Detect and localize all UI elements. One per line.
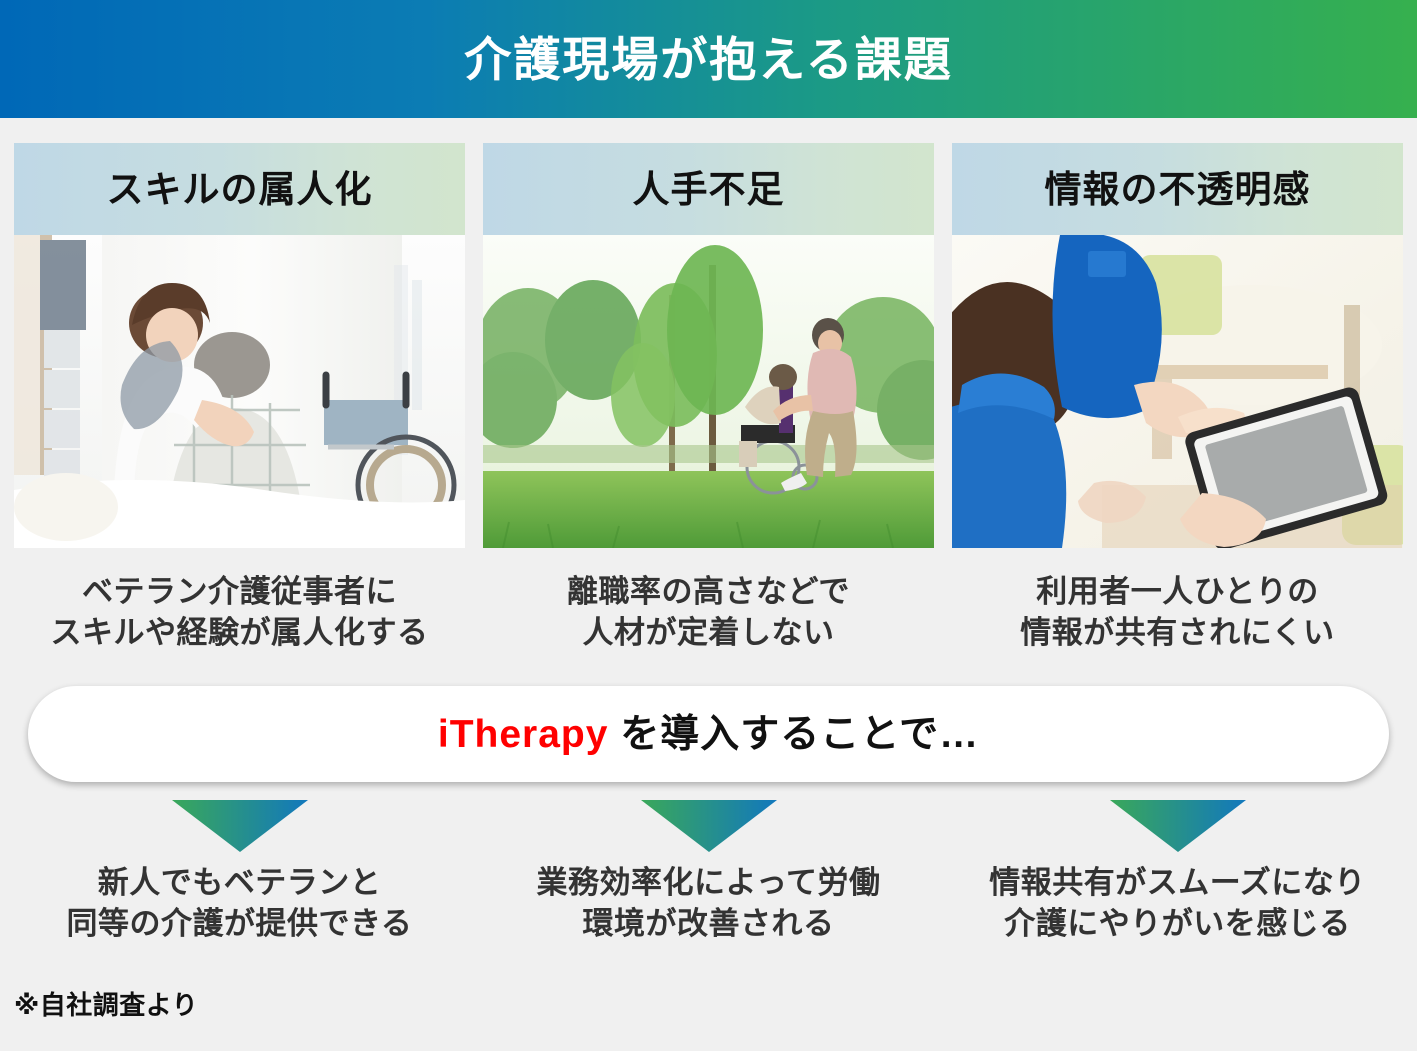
arrow-cell-2 — [483, 800, 934, 852]
arrow-cell-3 — [952, 800, 1403, 852]
footnote: ※自社調査より — [14, 985, 198, 1022]
challenge-card-3: 情報の不透明感 — [952, 143, 1403, 548]
card-title-band-1: スキルの属人化 — [14, 143, 465, 235]
arrow-down-triangle-icon — [172, 800, 308, 852]
arrow-cell-1 — [14, 800, 465, 852]
photo-park-wheelchair-illustration — [483, 235, 934, 548]
problem-caption-3-line2: 情報が共有されにくい — [952, 613, 1403, 654]
challenge-card-2: 人手不足 — [483, 143, 934, 548]
itherapy-banner-suffix: を導入することで… — [608, 713, 979, 756]
itherapy-banner-text: iTherapy を導入することで… — [438, 715, 979, 754]
benefit-caption-1-line1: 新人でもベテランと — [14, 863, 465, 904]
photo-caregivers-tablet-illustration — [952, 235, 1403, 548]
problem-caption-1-line1: ベテラン介護従事者に — [14, 572, 465, 613]
problem-caption-3-line1: 利用者一人ひとりの — [952, 572, 1403, 613]
problem-caption-2-line1: 離職率の高さなどで — [483, 572, 934, 613]
itherapy-banner: iTherapy を導入することで… — [28, 686, 1389, 782]
arrow-down-triangle-icon — [1110, 800, 1246, 852]
photo-caregiver-bedside-illustration — [14, 235, 465, 548]
problem-caption-1: ベテラン介護従事者に スキルや経験が属人化する — [14, 572, 465, 654]
card-title-1: スキルの属人化 — [107, 171, 373, 208]
itherapy-brand-label: iTherapy — [438, 713, 609, 756]
benefit-captions: 新人でもベテランと 同等の介護が提供できる 業務効率化によって労働 環境が改善さ… — [14, 863, 1403, 945]
challenge-cards: スキルの属人化 — [14, 143, 1403, 548]
problem-caption-2-line2: 人材が定着しない — [483, 613, 934, 654]
benefit-caption-3: 情報共有がスムーズになり 介護にやりがいを感じる — [952, 863, 1403, 945]
benefit-caption-1: 新人でもベテランと 同等の介護が提供できる — [14, 863, 465, 945]
problem-caption-2: 離職率の高さなどで 人材が定着しない — [483, 572, 934, 654]
card-photo-1 — [14, 235, 465, 548]
page-header: 介護現場が抱える課題 — [0, 0, 1417, 118]
benefit-caption-3-line2: 介護にやりがいを感じる — [952, 904, 1403, 945]
arrow-down-triangle-icon — [641, 800, 777, 852]
card-title-3: 情報の不透明感 — [1045, 171, 1311, 208]
benefit-caption-3-line1: 情報共有がスムーズになり — [952, 863, 1403, 904]
card-title-band-2: 人手不足 — [483, 143, 934, 235]
benefit-caption-1-line2: 同等の介護が提供できる — [14, 904, 465, 945]
problem-captions: ベテラン介護従事者に スキルや経験が属人化する 離職率の高さなどで 人材が定着し… — [14, 572, 1403, 654]
page-title: 介護現場が抱える課題 — [464, 36, 953, 83]
card-photo-3 — [952, 235, 1403, 548]
arrow-row — [14, 800, 1403, 852]
card-title-2: 人手不足 — [633, 171, 785, 208]
benefit-caption-2-line1: 業務効率化によって労働 — [483, 863, 934, 904]
problem-caption-1-line2: スキルや経験が属人化する — [14, 613, 465, 654]
benefit-caption-2: 業務効率化によって労働 環境が改善される — [483, 863, 934, 945]
card-photo-2 — [483, 235, 934, 548]
problem-caption-3: 利用者一人ひとりの 情報が共有されにくい — [952, 572, 1403, 654]
challenge-card-1: スキルの属人化 — [14, 143, 465, 548]
card-title-band-3: 情報の不透明感 — [952, 143, 1403, 235]
benefit-caption-2-line2: 環境が改善される — [483, 904, 934, 945]
